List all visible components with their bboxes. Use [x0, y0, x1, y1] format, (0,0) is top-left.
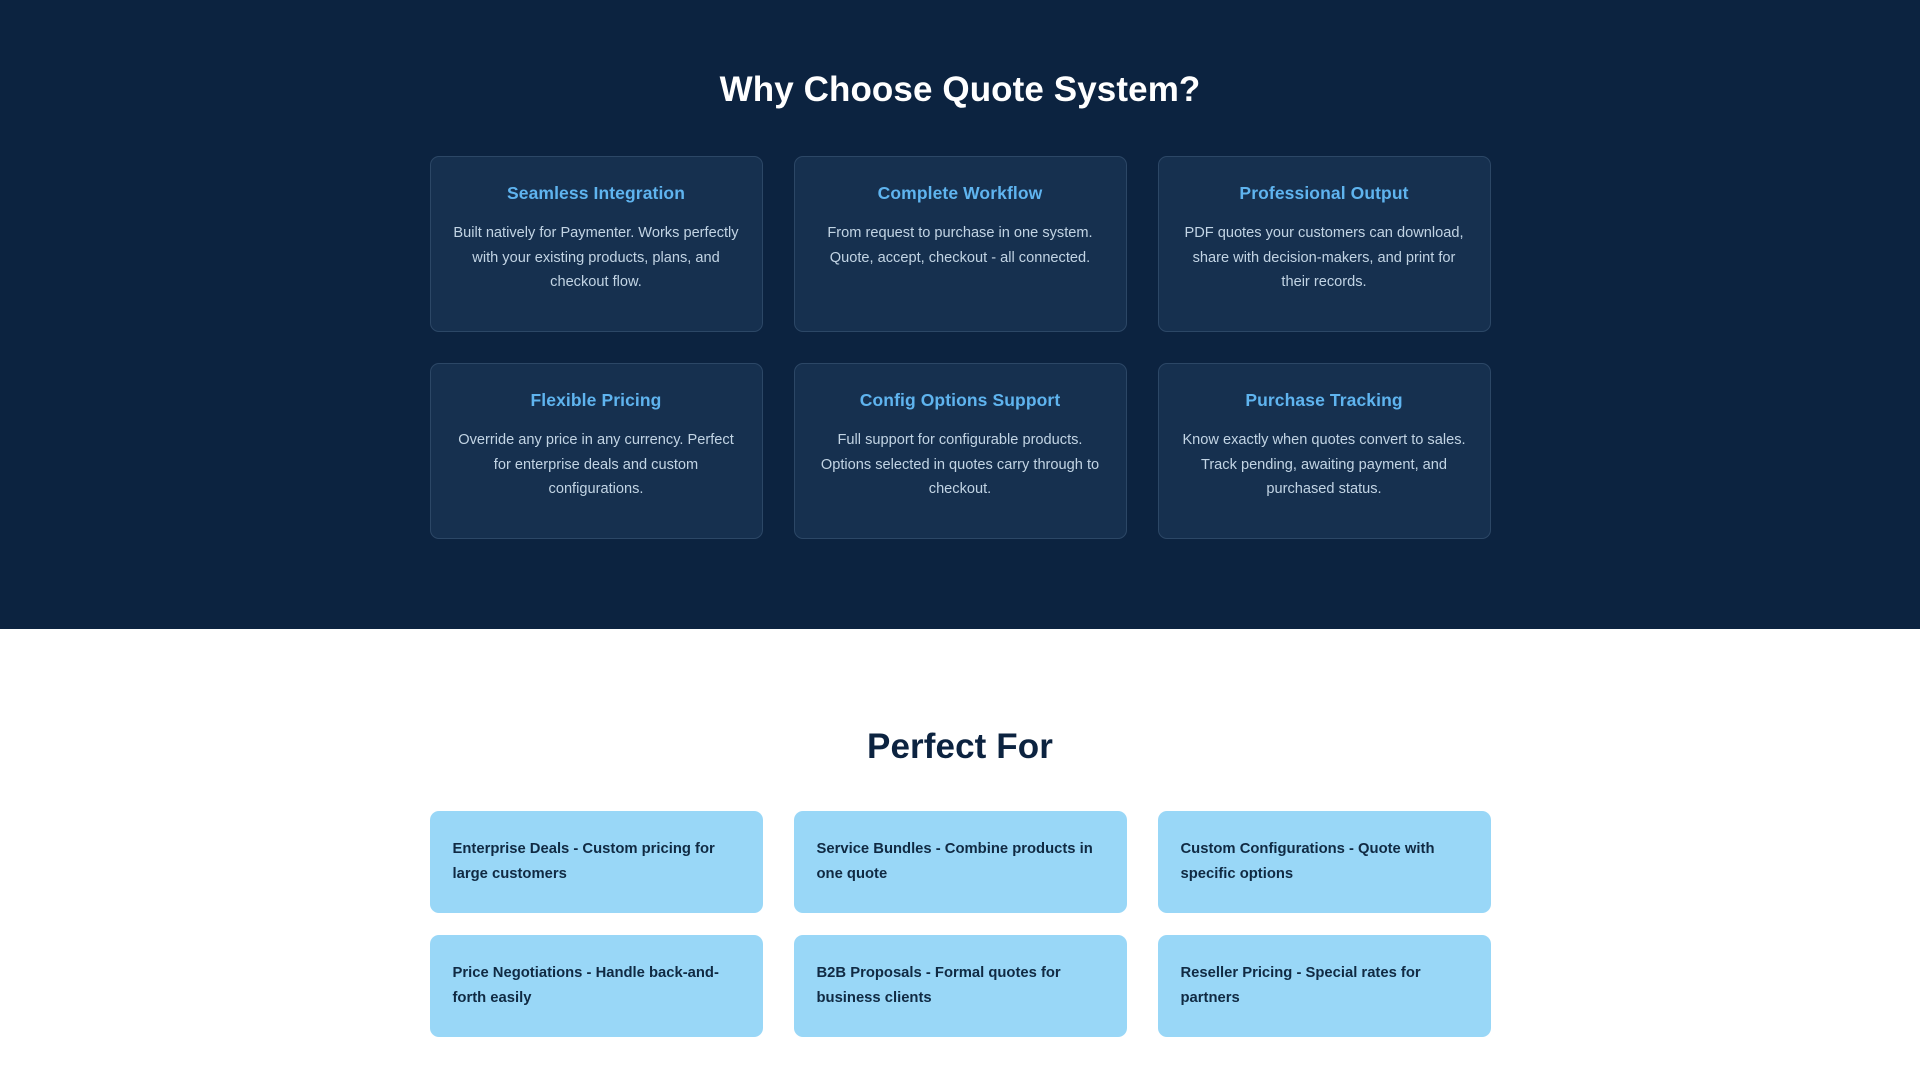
usecase-card-text: B2B Proposals - Formal quotes for busine…	[817, 961, 1104, 1011]
usecase-card-grid: Enterprise Deals - Custom pricing for la…	[429, 811, 1491, 1037]
feature-card-title: Flexible Pricing	[453, 390, 740, 411]
feature-card-description: Full support for configurable products. …	[817, 428, 1104, 502]
feature-card-title: Complete Workflow	[817, 183, 1104, 204]
feature-card-title: Config Options Support	[817, 390, 1104, 411]
why-choose-section: Why Choose Quote System? Seamless Integr…	[0, 0, 1920, 629]
feature-card-complete-workflow[interactable]: Complete Workflow From request to purcha…	[794, 156, 1127, 332]
usecase-card-text: Service Bundles - Combine products in on…	[817, 837, 1104, 887]
feature-card-title: Professional Output	[1181, 183, 1468, 204]
usecase-card-price-negotiations[interactable]: Price Negotiations - Handle back-and-for…	[430, 935, 763, 1037]
feature-card-description: From request to purchase in one system. …	[817, 221, 1104, 270]
feature-card-flexible-pricing[interactable]: Flexible Pricing Override any price in a…	[430, 363, 763, 539]
perfect-for-section: Perfect For Enterprise Deals - Custom pr…	[0, 629, 1920, 1080]
usecase-card-reseller-pricing[interactable]: Reseller Pricing - Special rates for par…	[1158, 935, 1491, 1037]
feature-card-description: PDF quotes your customers can download, …	[1181, 221, 1468, 295]
usecase-card-custom-configurations[interactable]: Custom Configurations - Quote with speci…	[1158, 811, 1491, 913]
feature-card-seamless-integration[interactable]: Seamless Integration Built natively for …	[430, 156, 763, 332]
usecase-card-text: Custom Configurations - Quote with speci…	[1181, 837, 1468, 887]
feature-card-description: Built natively for Paymenter. Works perf…	[453, 221, 740, 295]
perfect-for-heading: Perfect For	[0, 629, 1920, 767]
usecase-card-text: Price Negotiations - Handle back-and-for…	[453, 961, 740, 1011]
feature-card-description: Know exactly when quotes convert to sale…	[1181, 428, 1468, 502]
feature-card-description: Override any price in any currency. Perf…	[453, 428, 740, 502]
feature-card-title: Seamless Integration	[453, 183, 740, 204]
usecase-card-service-bundles[interactable]: Service Bundles - Combine products in on…	[794, 811, 1127, 913]
usecase-card-text: Reseller Pricing - Special rates for par…	[1181, 961, 1468, 1011]
feature-card-config-options-support[interactable]: Config Options Support Full support for …	[794, 363, 1127, 539]
usecase-card-text: Enterprise Deals - Custom pricing for la…	[453, 837, 740, 887]
why-choose-heading: Why Choose Quote System?	[0, 0, 1920, 110]
feature-card-grid: Seamless Integration Built natively for …	[429, 156, 1491, 539]
feature-card-title: Purchase Tracking	[1181, 390, 1468, 411]
usecase-card-b2b-proposals[interactable]: B2B Proposals - Formal quotes for busine…	[794, 935, 1127, 1037]
feature-card-professional-output[interactable]: Professional Output PDF quotes your cust…	[1158, 156, 1491, 332]
usecase-card-enterprise-deals[interactable]: Enterprise Deals - Custom pricing for la…	[430, 811, 763, 913]
feature-card-purchase-tracking[interactable]: Purchase Tracking Know exactly when quot…	[1158, 363, 1491, 539]
